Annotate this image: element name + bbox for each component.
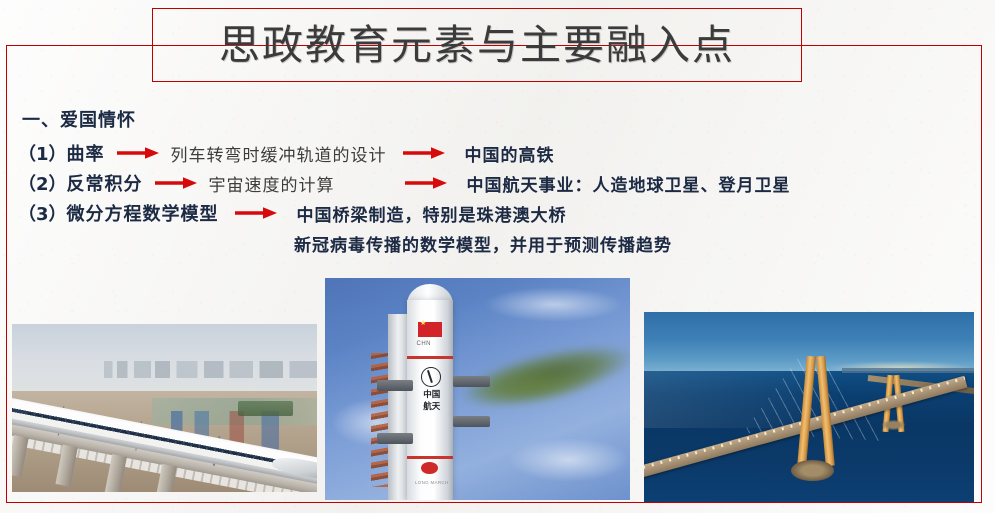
- bullet-2-number: （2）: [18, 170, 67, 196]
- slide-title-box: 思政教育元素与主要融入点: [152, 8, 802, 82]
- distant-shoreline: [842, 368, 974, 373]
- service-arm: [453, 376, 490, 387]
- sky-backdrop: [12, 324, 317, 395]
- bullet-2-result: 中国航天事业：人造地球卫星、登月卫星: [467, 171, 791, 196]
- bullet-3-result: 中国桥梁制造，特别是珠港澳大桥: [297, 201, 567, 226]
- bullet-3-number: （3）: [18, 200, 67, 226]
- bullet-1-result: 中国的高铁: [465, 141, 555, 166]
- bullet-2-middle: 宇宙速度的计算: [209, 171, 389, 196]
- bullet-row-2: （2） 反常积分 宇宙速度的计算 中国航天事业：人造地球卫星、登月卫星: [18, 168, 978, 198]
- rocket-red-band: [407, 456, 453, 460]
- viaduct-pier: [12, 435, 28, 478]
- service-arm: [377, 433, 414, 444]
- section-heading: 一、爱国情怀: [22, 106, 978, 132]
- bullet-1-middle: 列车转弯时缓冲轨道的设计: [171, 141, 387, 166]
- bridge-pier-main: [791, 460, 834, 481]
- casc-logo-icon: [421, 367, 441, 387]
- green-roof-building: [238, 401, 293, 416]
- rocket-vertical-text: 中国航天: [420, 389, 444, 413]
- bullet-3-term: 微分方程数学模型: [67, 200, 219, 226]
- hong-kong-zhuhai-macau-bridge-photo: [644, 312, 974, 502]
- bullet-1-term: 曲率: [67, 140, 105, 166]
- high-speed-train-photo: [12, 324, 317, 492]
- china-flag-icon: [418, 322, 442, 336]
- right-arrow-icon: [117, 146, 159, 160]
- bullet-row-3-line2: 新冠病毒传播的数学模型，并用于预测传播趋势: [18, 228, 978, 258]
- cloud-wisp: [508, 438, 630, 482]
- service-arm: [453, 416, 490, 427]
- flag-country-code: CHN: [417, 341, 451, 347]
- right-arrow-icon: [155, 176, 197, 190]
- bullet-3-result-line2: 新冠病毒传播的数学模型，并用于预测传播趋势: [294, 231, 672, 256]
- long-march-rocket-photo: CHN 中国航天 LONG MARCH: [325, 278, 630, 500]
- bullet-row-3: （3） 微分方程数学模型 中国桥梁制造，特别是珠港澳大桥: [18, 198, 978, 228]
- city-skyline: [104, 361, 318, 378]
- bullet-row-1: （1） 曲率 列车转弯时缓冲轨道的设计 中国的高铁: [18, 138, 978, 168]
- page-title: 思政教育元素与主要融入点: [219, 25, 735, 66]
- bullet-1-number: （1）: [18, 140, 67, 166]
- service-arm: [377, 380, 414, 391]
- content-area: 一、爱国情怀 （1） 曲率 列车转弯时缓冲轨道的设计 中国的高铁: [18, 106, 978, 258]
- rocket-red-band: [407, 356, 453, 360]
- right-arrow-icon: [403, 146, 445, 160]
- right-arrow-icon: [405, 176, 447, 190]
- right-arrow-icon: [235, 206, 277, 220]
- bullet-2-term: 反常积分: [67, 170, 143, 196]
- bridge-pier-far: [882, 420, 905, 430]
- rocket-brand-text: LONG MARCH: [410, 480, 453, 485]
- slide-canvas: 思政教育元素与主要融入点 一、爱国情怀 （1） 曲率 列车转弯时缓冲轨道的设计: [0, 0, 995, 513]
